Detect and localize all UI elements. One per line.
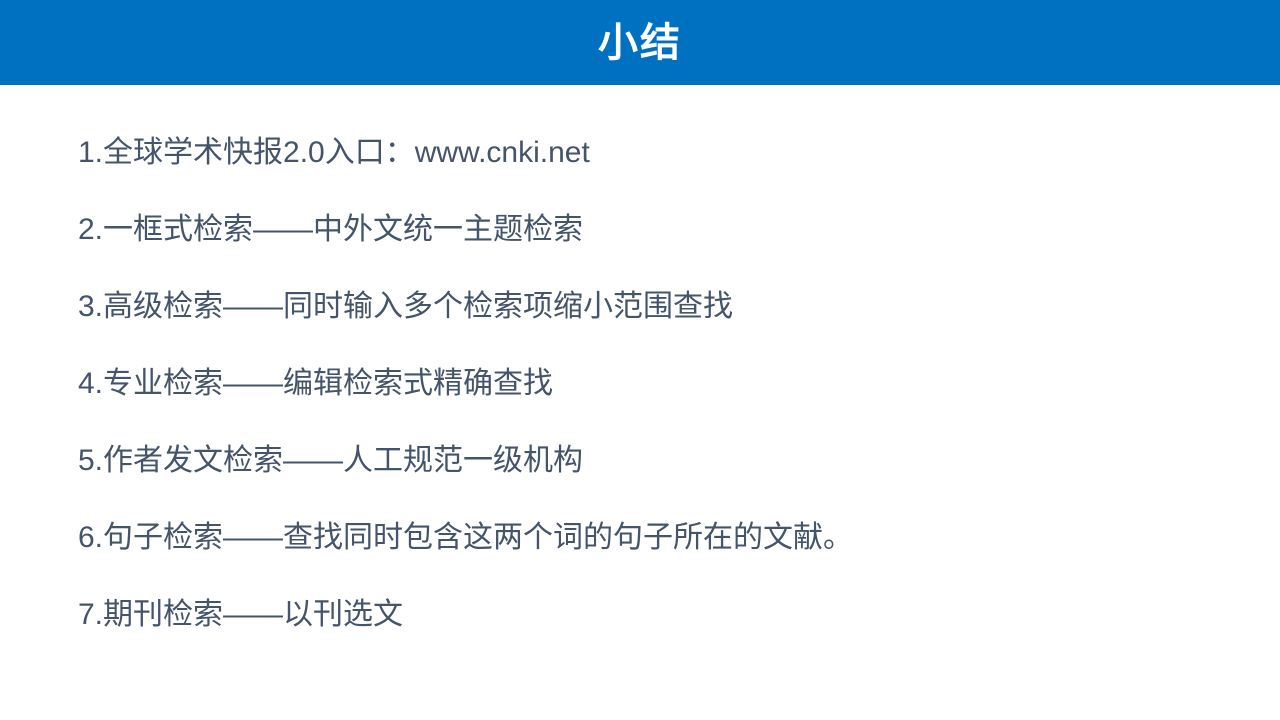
- page-title: 小结: [598, 23, 682, 63]
- list-item: 7.期刊检索——以刊选文: [78, 595, 1220, 635]
- list-item: 4.专业检索——编辑检索式精确查找: [78, 364, 1220, 404]
- slide-title-banner: 小结: [0, 0, 1280, 85]
- summary-list: 1.全球学术快报2.0入口：www.cnki.net 2.一框式检索——中外文统…: [78, 133, 1220, 635]
- list-item: 3.高级检索——同时输入多个检索项缩小范围查找: [78, 287, 1220, 327]
- list-item: 5.作者发文检索——人工规范一级机构: [78, 441, 1220, 481]
- list-item: 1.全球学术快报2.0入口：www.cnki.net: [78, 133, 1220, 173]
- list-item: 2.一框式检索——中外文统一主题检索: [78, 210, 1220, 250]
- list-item: 6.句子检索——查找同时包含这两个词的句子所在的文献。: [78, 518, 1220, 558]
- slide-body: 1.全球学术快报2.0入口：www.cnki.net 2.一框式检索——中外文统…: [0, 85, 1280, 720]
